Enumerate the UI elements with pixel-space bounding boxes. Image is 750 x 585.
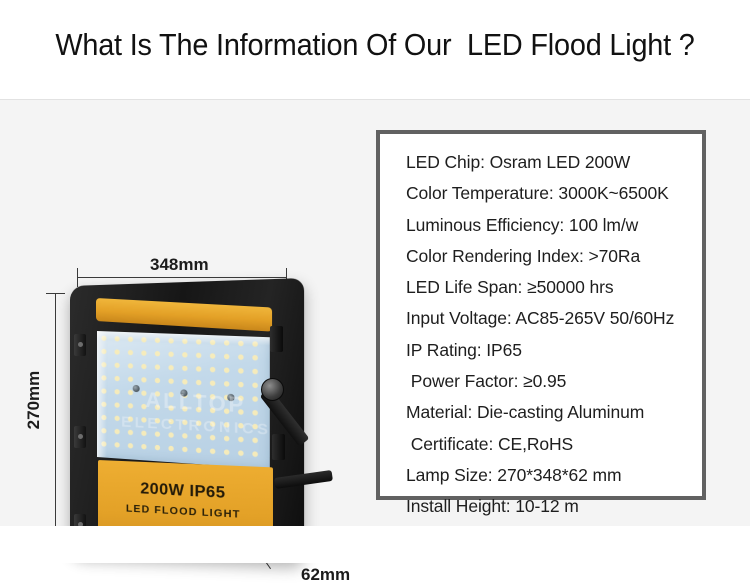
housing-hinge-lug: [74, 334, 86, 356]
spec-item: Install Height: 10-12 m: [406, 491, 706, 522]
led-panel-screw: [133, 385, 140, 392]
hinge-lug-dot: [78, 434, 83, 439]
mounting-bracket: [266, 382, 328, 500]
spec-item: Material: Die-casting Aluminum: [406, 397, 706, 428]
led-panel-bevel-left: [97, 331, 107, 458]
height-dimension-tick-top: [46, 293, 65, 294]
housing-hinge-lug: [74, 426, 86, 448]
spec-item: Luminous Efficiency: 100 lm/w: [406, 210, 706, 241]
spec-item: Power Factor: ≥0.95: [406, 366, 706, 397]
width-dimension-label: 348mm: [150, 255, 209, 275]
led-panel-screw: [180, 389, 187, 397]
spec-item: Lamp Size: 270*348*62 mm: [406, 460, 706, 491]
led-dot-grid: [101, 335, 266, 465]
specifications-box: LED Chip: Osram LED 200W Color Temperatu…: [376, 130, 706, 500]
spec-item: Color Temperature: 3000K~6500K: [406, 178, 706, 209]
spec-item: Color Rendering Index: >70Ra: [406, 241, 706, 272]
spec-item: LED Life Span: ≥50000 hrs: [406, 272, 706, 303]
spec-item: LED Chip: Osram LED 200W: [406, 147, 706, 178]
spec-item: IP Rating: IP65: [406, 335, 706, 366]
bracket-adjustment-knob: [261, 378, 284, 401]
width-dimension-tick-left: [77, 268, 78, 287]
product-figure-area: 348mm 270mm 62mm ALLTOP ELECTRONIC: [0, 100, 375, 526]
height-dimension-label: 270mm: [24, 360, 44, 440]
width-dimension-line: [77, 277, 286, 278]
led-panel: [97, 331, 270, 469]
hinge-lug-dot: [78, 342, 83, 347]
height-dimension-line: [55, 293, 56, 547]
title-band: What Is The Information Of Our LED Flood…: [0, 0, 750, 100]
spec-item: Input Voltage: AC85-265V 50/60Hz: [406, 303, 706, 334]
housing-side-lug: [270, 326, 283, 352]
page-title: What Is The Information Of Our LED Flood…: [26, 27, 724, 63]
bottom-band: [0, 526, 750, 563]
bracket-lower-arm: [274, 470, 333, 489]
product-info-page: What Is The Information Of Our LED Flood…: [0, 0, 750, 563]
led-panel-screw: [227, 394, 234, 402]
specifications-list: LED Chip: Osram LED 200W Color Temperatu…: [406, 147, 706, 523]
spec-item: Certificate: CE,RoHS: [406, 429, 706, 460]
